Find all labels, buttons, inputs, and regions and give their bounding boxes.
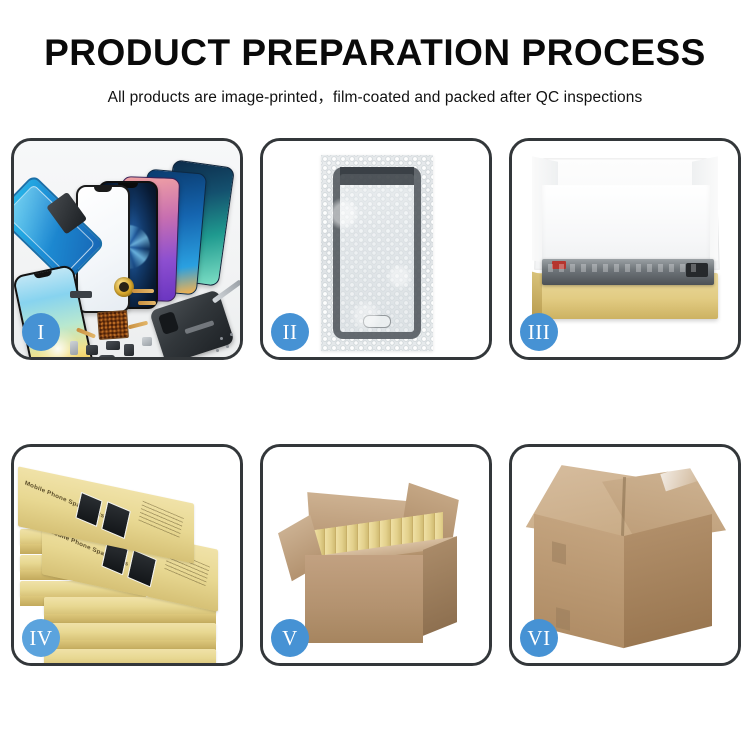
- product-connector: [686, 263, 708, 277]
- part-sim-tray: [70, 341, 78, 355]
- part-bracket: [142, 337, 152, 346]
- page-title: PRODUCT PREPARATION PROCESS: [0, 34, 750, 73]
- phone-notch: [94, 187, 112, 192]
- screw: [226, 345, 229, 348]
- part-speaker: [99, 355, 115, 357]
- phone-notch: [34, 270, 53, 279]
- step-4-image: Mobile Phone Spare Parts Mobile Phone Sp…: [14, 447, 240, 663]
- step-panel-4: Mobile Phone Spare Parts Mobile Phone Sp…: [11, 444, 243, 666]
- screw: [230, 333, 233, 336]
- cream-box-tray: [536, 273, 718, 319]
- screw: [220, 337, 223, 340]
- bubble-wrap-sheet: [321, 155, 433, 351]
- stacked-box: [44, 623, 216, 641]
- step-badge-4: IV: [22, 619, 60, 657]
- part-chip: [106, 341, 120, 350]
- carton-right-face: [624, 514, 712, 648]
- box-product-photo: [75, 492, 102, 527]
- box-product-photo: [127, 550, 157, 588]
- wrapped-product: [542, 259, 714, 285]
- carton-body-side: [423, 536, 457, 636]
- connector-grid-part: [97, 310, 129, 340]
- part-flex-cable: [132, 289, 154, 293]
- step-badge-3: III: [520, 313, 558, 351]
- housing-band: [184, 320, 214, 334]
- housing-camera: [158, 311, 179, 335]
- step-6-image: VI: [512, 447, 738, 663]
- step-panel-1: I: [11, 138, 243, 360]
- part-chip: [124, 344, 134, 356]
- product-label-tag: [552, 261, 566, 269]
- part-flex-cable: [138, 301, 156, 305]
- step-5-image: V: [263, 447, 489, 663]
- carton-body-front: [305, 555, 423, 643]
- step-panel-5: V: [260, 444, 492, 666]
- screw: [216, 349, 219, 352]
- step-1-image: I: [14, 141, 240, 357]
- step-badge-2: II: [271, 313, 309, 351]
- step-panel-6: VI: [509, 444, 741, 666]
- page-header: PRODUCT PREPARATION PROCESS All products…: [0, 0, 750, 107]
- carton-tape-lower: [556, 607, 570, 630]
- box-spec-lines: [138, 501, 184, 539]
- step-3-image: III: [512, 141, 738, 357]
- carton-tape-upper: [552, 541, 566, 564]
- step-panel-2: II: [260, 138, 492, 360]
- step-badge-1: I: [22, 313, 60, 351]
- process-steps-grid: I II: [0, 138, 750, 688]
- box-product-photo: [101, 501, 131, 539]
- step-badge-6: VI: [520, 619, 558, 657]
- part-battery-strip: [70, 291, 92, 298]
- step-badge-5: V: [271, 619, 309, 657]
- step-panel-3: III: [509, 138, 741, 360]
- step-2-image: II: [263, 141, 489, 357]
- part-chip: [86, 345, 98, 355]
- wrapped-screen-glass: [333, 167, 421, 339]
- stacked-box: [44, 649, 216, 663]
- gold-camera-ring: [114, 277, 134, 297]
- home-button-cutout: [363, 315, 391, 328]
- page-subtitle: All products are image-printed，film-coat…: [0, 85, 750, 107]
